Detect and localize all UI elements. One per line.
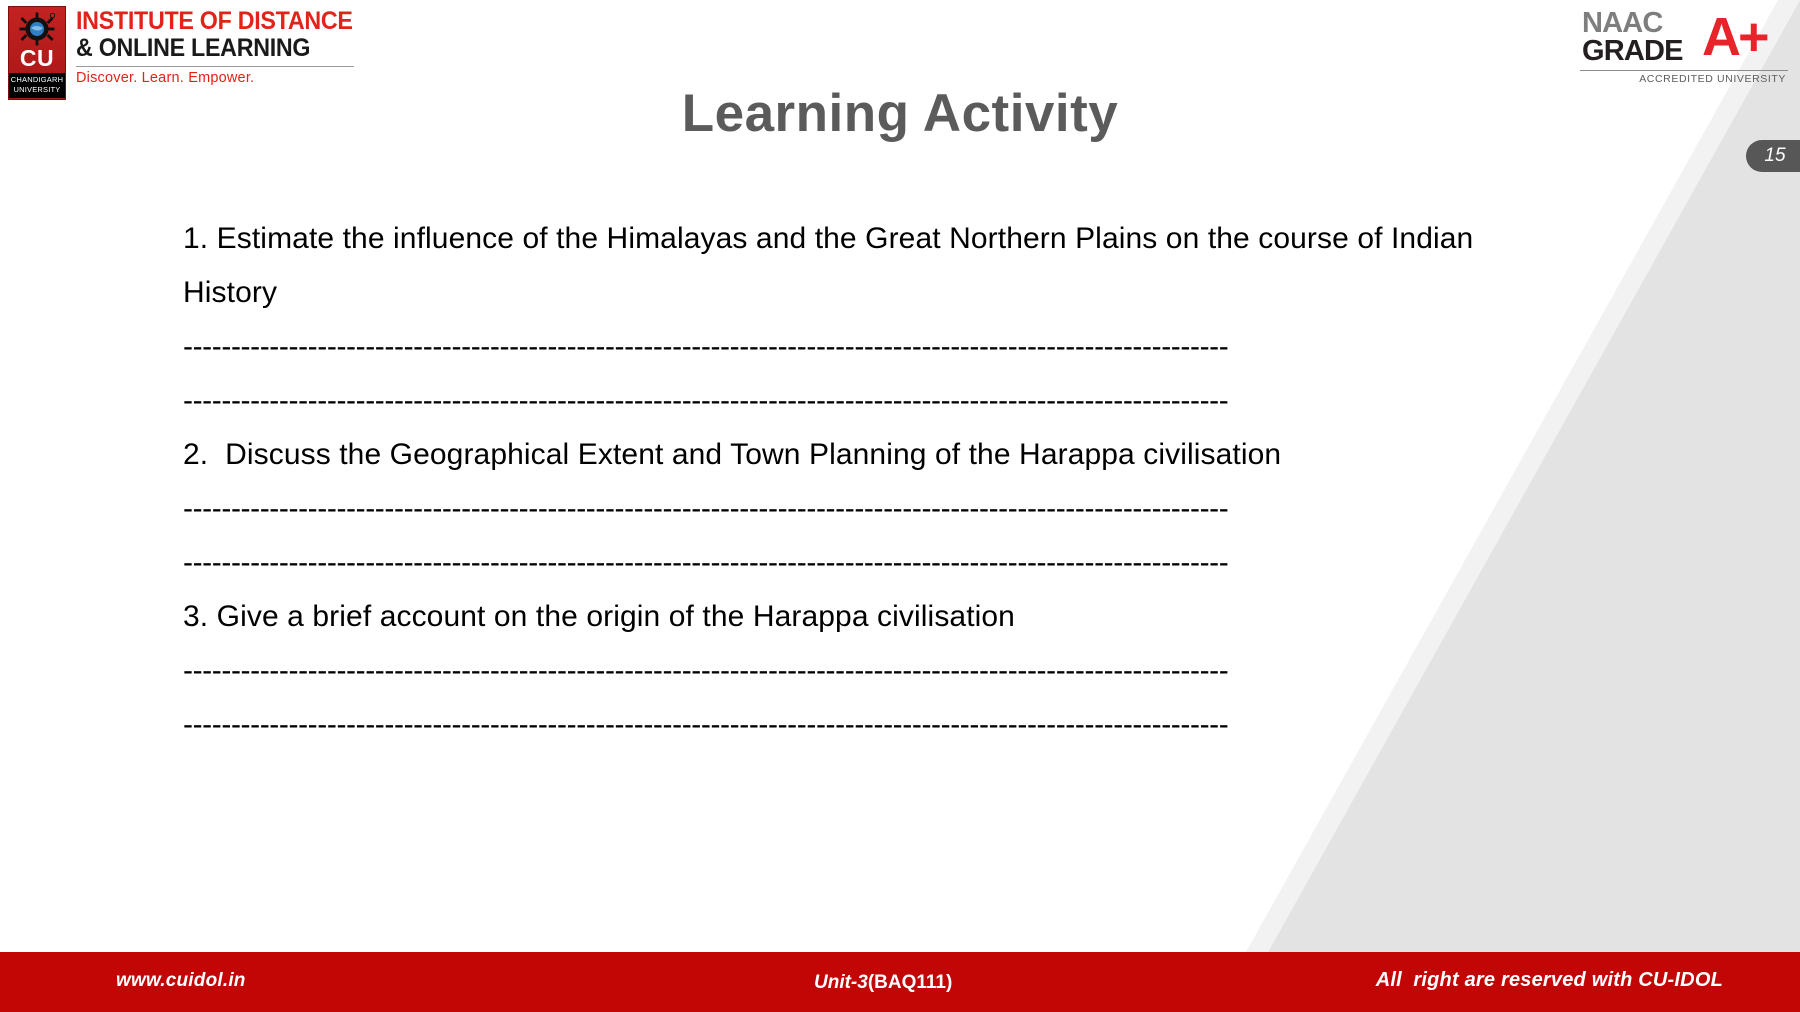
slide-canvas: CU CHANDIGARH UNIVERSITY INSTITUTE OF DI… xyxy=(0,0,1800,1012)
answer-rule: ----------------------------------------… xyxy=(183,698,1543,752)
answer-rule: ----------------------------------------… xyxy=(183,482,1543,536)
footer-unit-code: (BAQ111) xyxy=(868,972,952,993)
answer-rule: ----------------------------------------… xyxy=(183,374,1543,428)
slide-footer: www.cuidol.in Unit-3(BAQ111) All right a… xyxy=(0,952,1800,1012)
answer-rule: ----------------------------------------… xyxy=(183,536,1543,590)
footer-unit-name: Unit-3 xyxy=(814,972,868,993)
learning-activity-list: 1. Estimate the influence of the Himalay… xyxy=(183,212,1543,752)
cu-globe-gear-icon xyxy=(17,12,57,46)
question-item: 2. Discuss the Geographical Extent and T… xyxy=(183,428,1543,482)
footer-rights-text: All right are reserved with CU-IDOL xyxy=(1376,969,1723,992)
question-item: 1. Estimate the influence of the Himalay… xyxy=(183,212,1543,320)
cu-badge-letters: CU xyxy=(20,47,54,70)
naac-grade-value: A+ xyxy=(1702,10,1767,64)
idol-line-1: INSTITUTE OF DISTANCE xyxy=(76,8,353,35)
naac-rows: NAAC GRADE A+ xyxy=(1580,8,1788,70)
answer-rule: ----------------------------------------… xyxy=(183,320,1543,374)
footer-unit-label: Unit-3(BAQ111) xyxy=(814,972,952,994)
idol-wordmark: INSTITUTE OF DISTANCE & ONLINE LEARNING … xyxy=(76,6,373,87)
answer-rule: ----------------------------------------… xyxy=(183,644,1543,698)
page-title: Learning Activity xyxy=(0,83,1800,145)
naac-grade-logo: NAAC GRADE A+ ACCREDITED UNIVERSITY xyxy=(1580,8,1788,92)
question-item: 3. Give a brief account on the origin of… xyxy=(183,590,1543,644)
naac-label-naac: NAAC xyxy=(1582,8,1663,38)
naac-divider xyxy=(1580,70,1788,71)
naac-label-grade: GRADE xyxy=(1582,36,1683,66)
idol-divider xyxy=(76,66,354,67)
idol-line-2: & ONLINE LEARNING xyxy=(76,35,353,62)
footer-website-link[interactable]: www.cuidol.in xyxy=(116,970,246,992)
